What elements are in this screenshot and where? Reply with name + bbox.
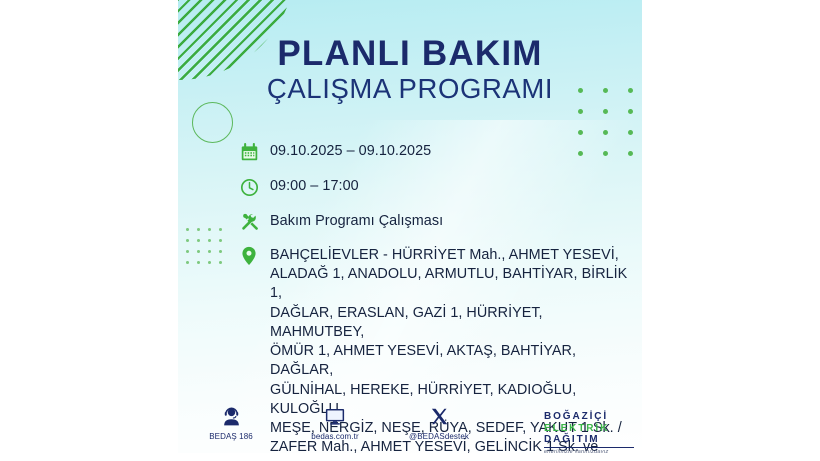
page-title: PLANLI BAKIM ÇALIŞMA PROGRAMI	[178, 36, 642, 104]
location-pin-icon	[240, 246, 270, 266]
x-twitter-icon	[430, 404, 449, 428]
contact-website[interactable]: bedas.com.tr	[296, 404, 374, 441]
logo-line-bogazici: BOĞAZİÇİ	[544, 411, 636, 423]
title-main: PLANLI BAKIM	[178, 36, 642, 72]
info-row-date: 09.10.2025 – 09.10.2025	[240, 141, 640, 163]
info-row-time: 09:00 – 17:00	[240, 176, 640, 198]
logo-line-elektrik: ELEKTRİK	[544, 423, 636, 435]
planned-maintenance-poster: PLANLI BAKIM ÇALIŞMA PROGRAMI	[178, 0, 642, 453]
info-date-text: 09.10.2025 – 09.10.2025	[270, 141, 431, 161]
logo-tagline: enerjimizle yanınızdayız	[544, 449, 636, 453]
poster-footer: BEDAŞ 186 bedas.com.tr	[178, 404, 642, 453]
contact-x-account[interactable]: @BEDASdestek	[400, 404, 478, 441]
logo-divider	[544, 447, 634, 448]
calendar-icon	[240, 141, 270, 163]
screenshot-canvas: PLANLI BAKIM ÇALIŞMA PROGRAMI	[0, 0, 820, 461]
contact-website-label: bedas.com.tr	[311, 432, 358, 441]
info-time-text: 09:00 – 17:00	[270, 176, 359, 196]
monitor-icon	[324, 404, 346, 428]
info-worktype-text: Bakım Programı Çalışması	[270, 211, 443, 231]
dot-grid-left-decoration	[186, 228, 230, 272]
tools-icon	[240, 211, 270, 233]
contact-x-label: @BEDASdestek	[409, 432, 469, 441]
contact-list: BEDAŞ 186 bedas.com.tr	[192, 404, 478, 441]
bedas-logo: BOĞAZİÇİ ELEKTRİK DAĞITIM enerjimizle ya…	[544, 411, 636, 453]
info-row-worktype: Bakım Programı Çalışması	[240, 211, 640, 233]
contact-call-center[interactable]: BEDAŞ 186	[192, 404, 270, 441]
contact-call-center-label: BEDAŞ 186	[209, 432, 253, 441]
support-agent-icon	[221, 404, 242, 428]
title-subtitle: ÇALIŞMA PROGRAMI	[178, 75, 642, 104]
circle-outline-decoration	[192, 102, 233, 143]
logo-line-dagitim: DAĞITIM	[544, 434, 636, 446]
clock-icon	[240, 176, 270, 198]
